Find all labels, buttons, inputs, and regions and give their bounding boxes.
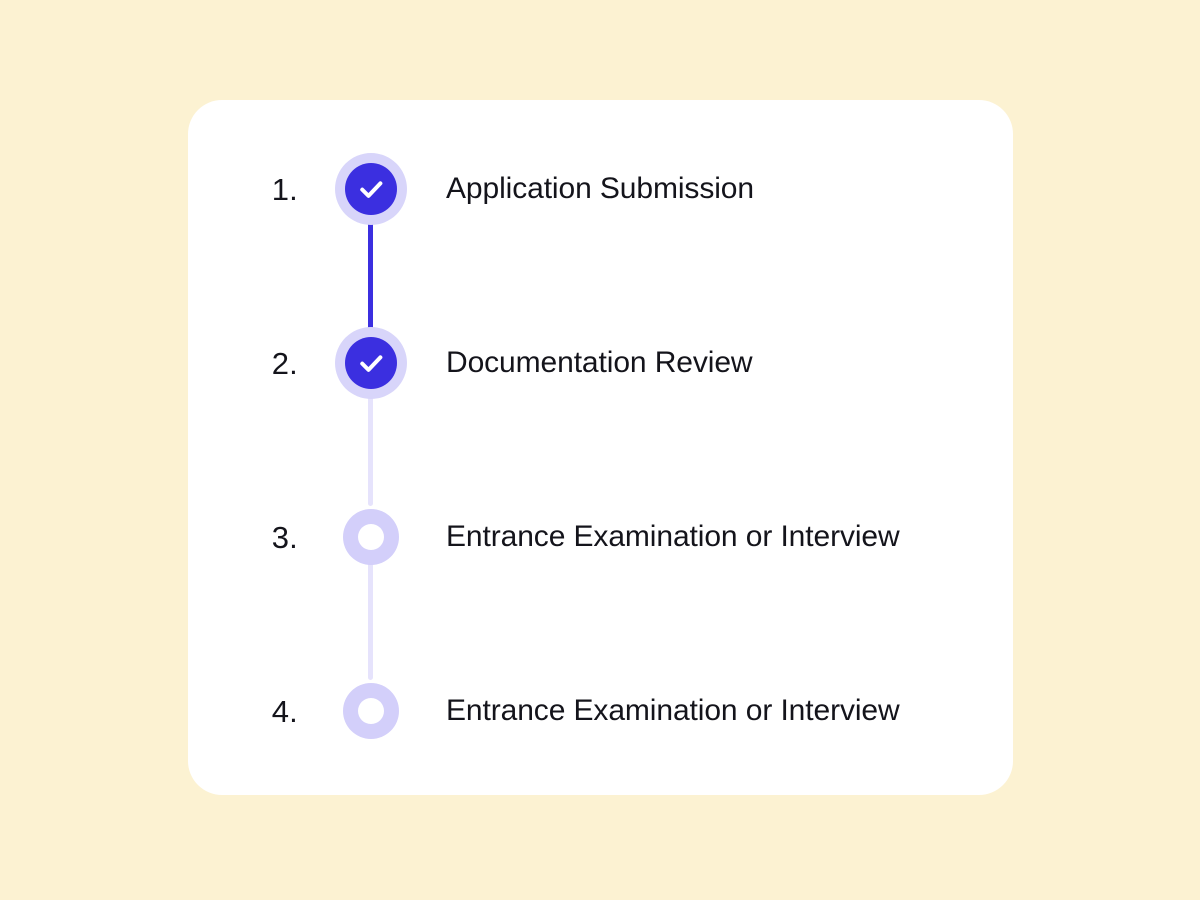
step-marker-4[interactable] <box>335 675 407 747</box>
check-icon <box>356 348 386 378</box>
circle-outline-icon <box>343 509 399 565</box>
check-icon <box>356 174 386 204</box>
step-item-4[interactable]: 4. Entrance Examination or Interview <box>188 666 1013 756</box>
circle-outline-hole <box>358 524 384 550</box>
step-label-3: Entrance Examination or Interview <box>446 519 900 555</box>
circle-outline-icon <box>343 683 399 739</box>
step-label-1: Application Submission <box>446 171 754 207</box>
step-connector-2-3 <box>368 386 373 506</box>
step-marker-3[interactable] <box>335 501 407 573</box>
progress-card: 1. Application Submission 2. <box>188 100 1013 795</box>
step-marker-2[interactable] <box>335 327 407 399</box>
step-marker-1[interactable] <box>335 153 407 225</box>
step-connector-1-2 <box>368 212 373 332</box>
step-number-4: 4. <box>228 696 298 727</box>
step-item-3[interactable]: 3. Entrance Examination or Interview <box>188 492 1013 582</box>
step-connector-3-4 <box>368 560 373 680</box>
step-number-1: 1. <box>228 174 298 205</box>
progress-stepper: 1. Application Submission 2. <box>188 100 1013 795</box>
marker-disc-icon <box>345 337 397 389</box>
step-item-2[interactable]: 2. Documentation Review <box>188 318 1013 408</box>
page-canvas: 1. Application Submission 2. <box>0 0 1200 900</box>
step-label-2: Documentation Review <box>446 345 752 381</box>
step-number-2: 2. <box>228 348 298 379</box>
step-item-1[interactable]: 1. Application Submission <box>188 144 1013 234</box>
marker-disc-icon <box>345 163 397 215</box>
step-number-3: 3. <box>228 522 298 553</box>
circle-outline-hole <box>358 698 384 724</box>
step-label-4: Entrance Examination or Interview <box>446 693 900 729</box>
